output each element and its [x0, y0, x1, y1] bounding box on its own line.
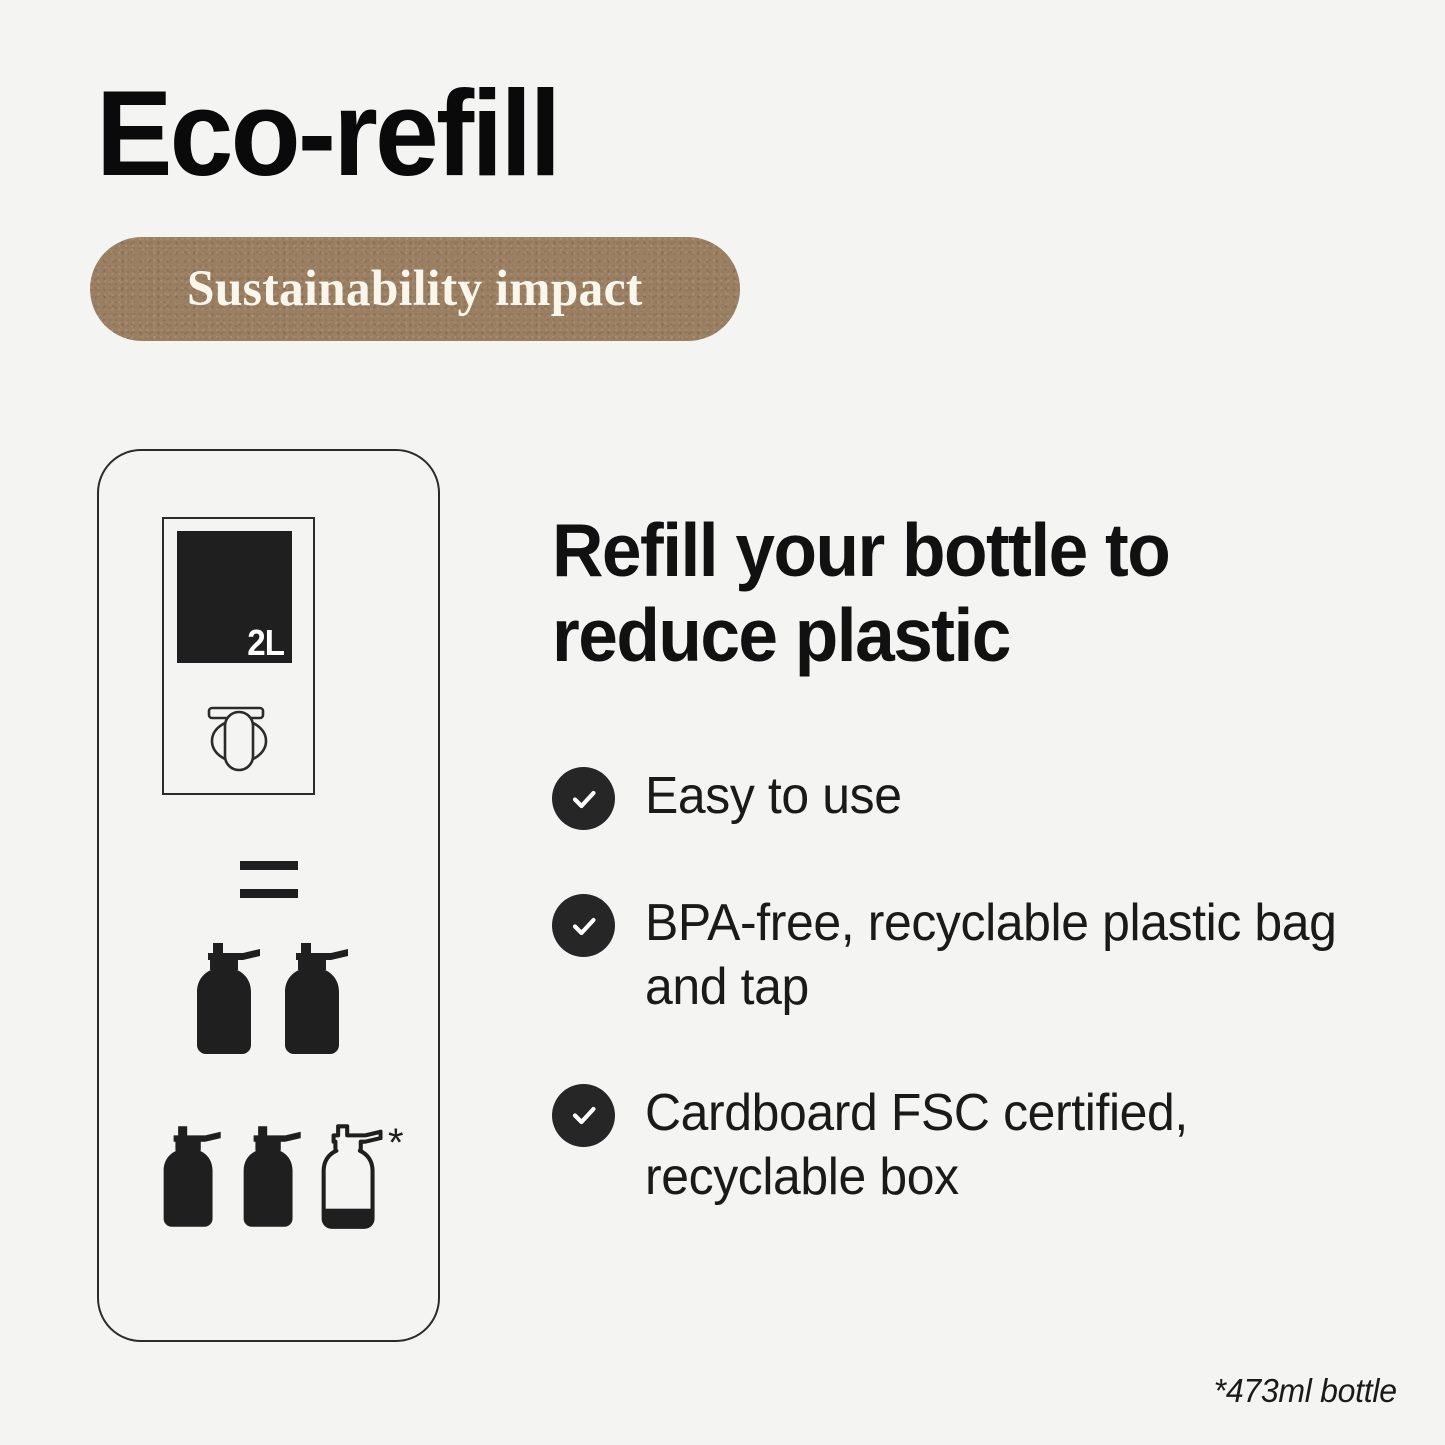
pump-bottle-filled-icon: [235, 1121, 302, 1233]
feature-list: Easy to use BPA-free, recyclable plastic…: [552, 765, 1382, 1210]
pump-bottle-filled-icon: [188, 938, 262, 1060]
bottle-row-three: [155, 1121, 382, 1233]
refill-box-label-swatch: 2L: [177, 531, 292, 663]
bottle-row-two: [188, 938, 350, 1060]
equals-symbol: [240, 861, 298, 898]
list-item: BPA-free, recyclable plastic bag and tap: [552, 892, 1382, 1020]
list-item: Cardboard FSC certified, recyclable box: [552, 1082, 1382, 1210]
footnote: *473ml bottle: [1214, 1372, 1397, 1410]
feature-label: Cardboard FSC certified, recyclable box: [645, 1082, 1353, 1210]
feature-label: Easy to use: [645, 765, 902, 829]
status-badge: Sustainability impact: [90, 237, 740, 341]
pump-bottle-outline-icon: [315, 1121, 382, 1233]
refill-box-graphic: 2L: [162, 517, 315, 795]
check-icon: [552, 1084, 615, 1147]
check-icon: [552, 894, 615, 957]
equals-bar-top: [240, 861, 298, 870]
equals-bar-bottom: [240, 889, 298, 898]
check-icon: [552, 767, 615, 830]
list-item: Easy to use: [552, 765, 1382, 830]
content-heading: Refill your bottle to reduce plastic: [552, 508, 1341, 678]
refill-box-volume-label: 2L: [247, 625, 284, 661]
illustration-panel: 2L: [97, 449, 440, 1342]
pump-bottle-filled-icon: [276, 938, 350, 1060]
page-title: Eco-refill: [96, 72, 558, 194]
pump-bottle-filled-icon: [155, 1121, 222, 1233]
status-badge-label: Sustainability impact: [187, 260, 643, 318]
tap-icon: [203, 694, 275, 772]
feature-label: BPA-free, recyclable plastic bag and tap: [645, 892, 1353, 1020]
content-column: Refill your bottle to reduce plastic Eas…: [552, 508, 1382, 678]
asterisk-marker: *: [388, 1123, 404, 1163]
